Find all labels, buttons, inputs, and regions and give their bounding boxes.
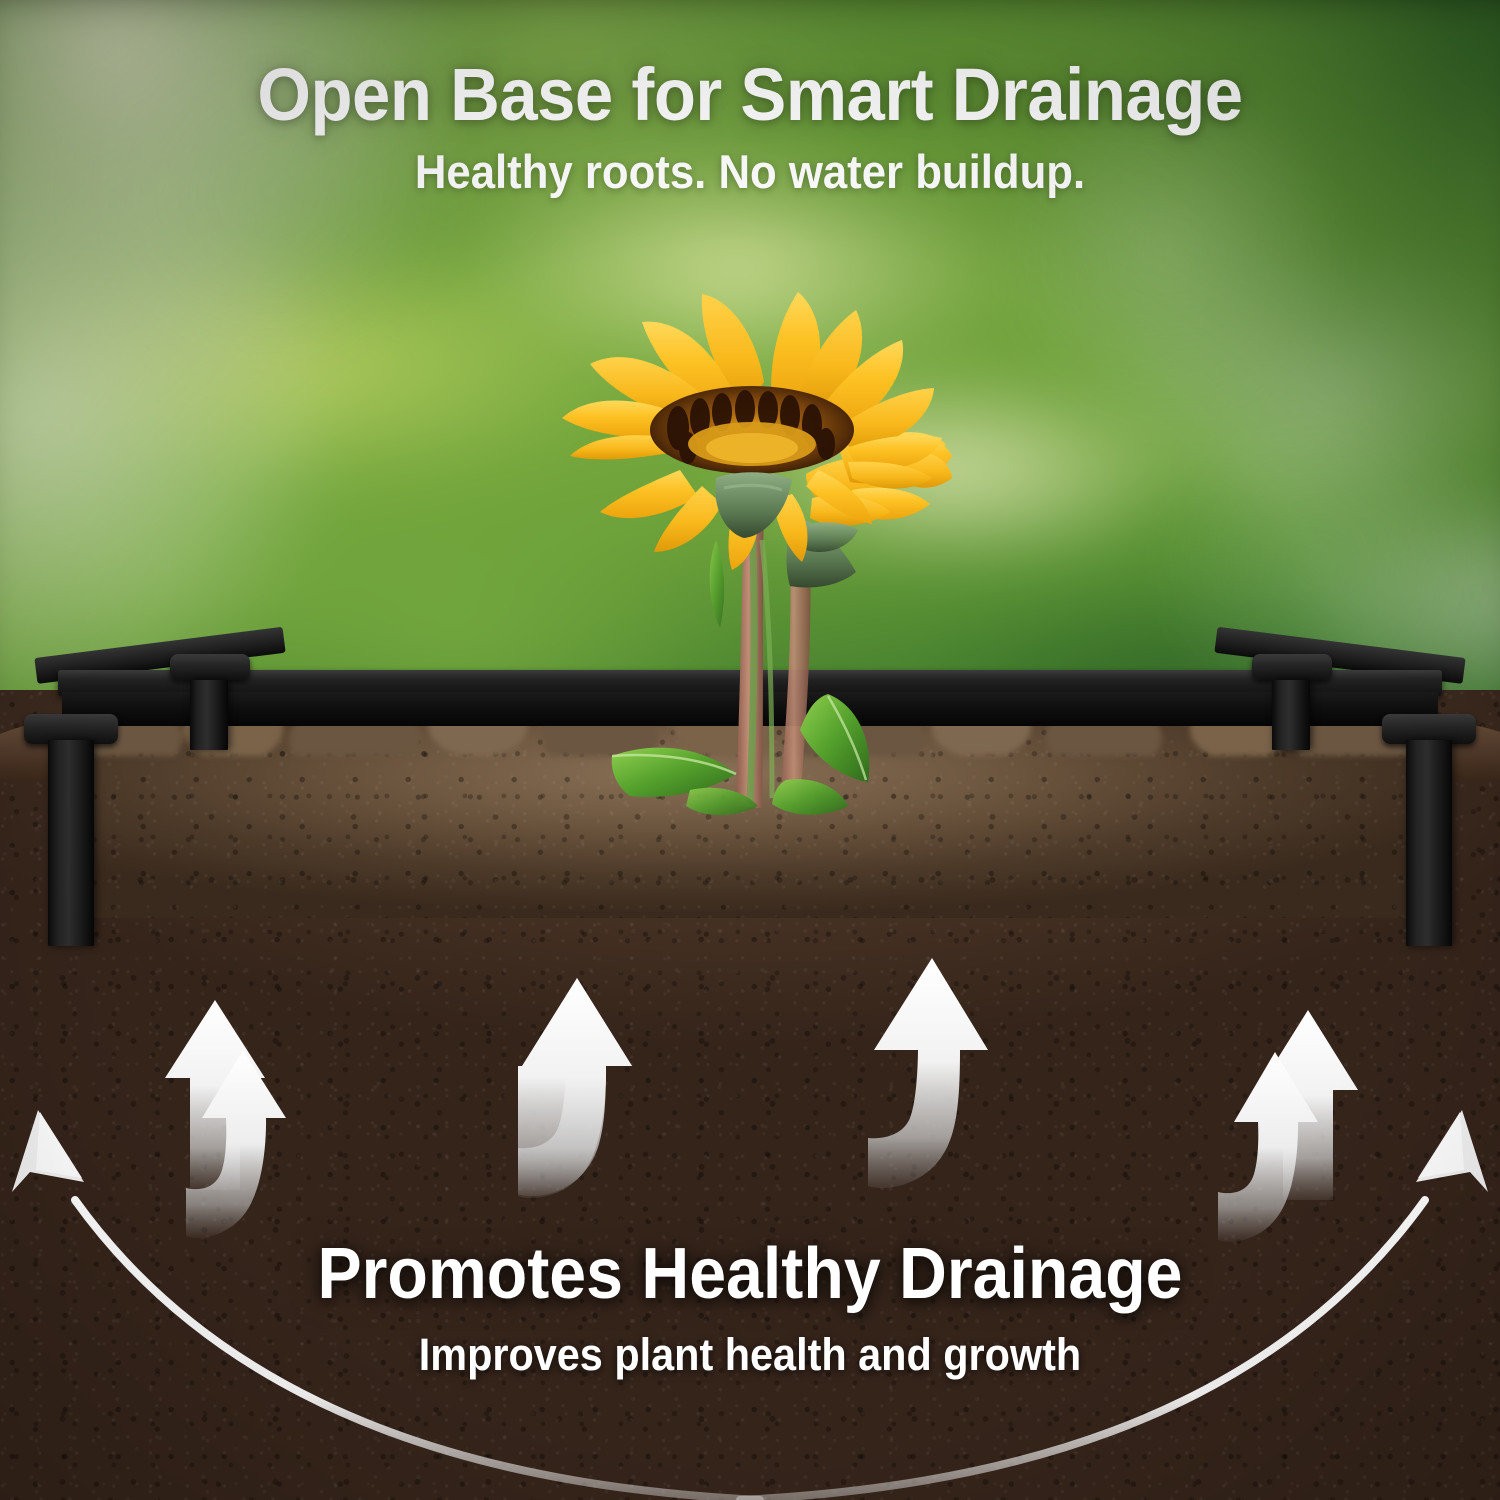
post-leg [1272,680,1310,750]
footer-text-block: Promotes Healthy Drainage Improves plant… [0,1238,1500,1377]
raised-garden-bed [0,640,1500,970]
post-cap-icon [170,654,250,680]
post-leg [1406,740,1452,946]
promo-image-canvas: Open Base for Smart Drainage Healthy roo… [0,0,1500,1500]
bed-corner-post-front-left [48,714,94,946]
page-headline: Open Base for Smart Drainage [53,0,1448,132]
bed-front-rail-face [62,692,1438,726]
footer-title: Promotes Healthy Drainage [60,1238,1440,1310]
bed-corner-post-front-right [1406,714,1452,946]
footer-subtitle: Improves plant health and growth [60,1332,1440,1377]
bed-corner-post-back-right [1272,654,1310,886]
post-leg [190,680,228,750]
page-subheadline: Healthy roots. No water buildup. [53,148,1448,195]
post-leg [48,740,94,946]
post-cap-icon [1252,654,1332,680]
bed-corner-post-back-left [190,654,228,886]
header-text-block: Open Base for Smart Drainage Healthy roo… [0,0,1500,195]
